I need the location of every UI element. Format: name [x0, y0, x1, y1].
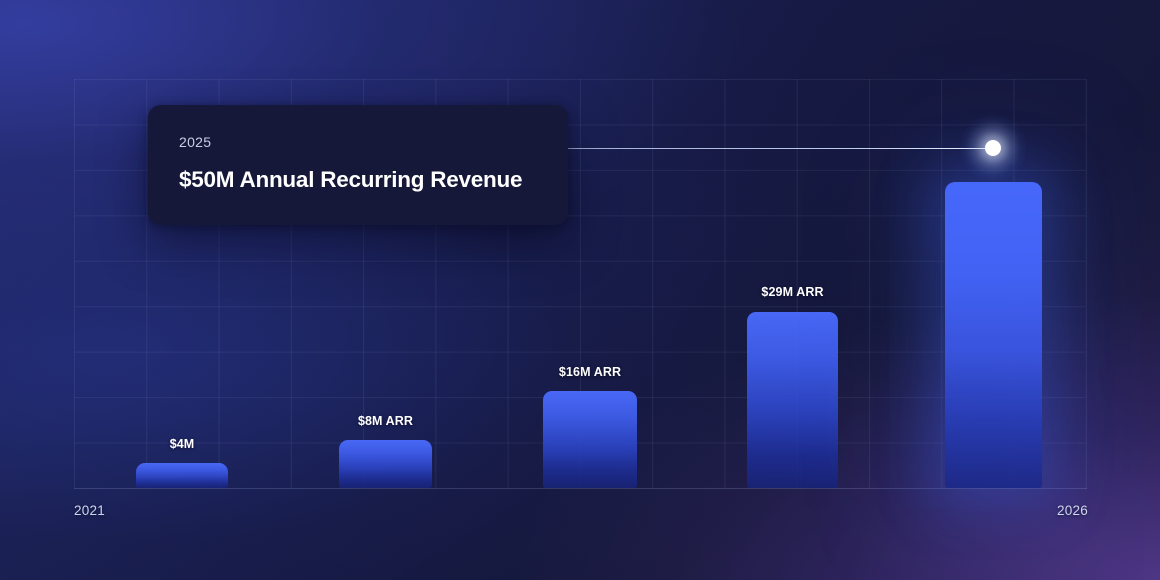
callout-year-label: 2025	[179, 135, 568, 149]
bar-group-2021[interactable]: $4M	[136, 463, 228, 488]
callout-connector-line	[566, 148, 994, 150]
bar-2022[interactable]	[339, 440, 432, 488]
bar-group-2023[interactable]: $16M ARR	[543, 391, 637, 488]
highlight-data-point-dot[interactable]	[985, 140, 1001, 156]
bar-value-label-2024: $29M ARR	[761, 285, 823, 299]
bar-group-2025[interactable]	[945, 182, 1042, 488]
bar-2023[interactable]	[543, 391, 637, 488]
callout-tooltip-card[interactable]: 2025 $50M Annual Recurring Revenue	[148, 105, 568, 225]
bar-value-label-2023: $16M ARR	[559, 365, 621, 379]
x-axis-end-label: 2026	[1057, 503, 1088, 518]
x-axis-start-label: 2021	[74, 503, 105, 518]
bar-group-2024[interactable]: $29M ARR	[747, 312, 838, 488]
bar-value-label-2021: $4M	[170, 437, 195, 451]
bar-2025[interactable]	[945, 182, 1042, 488]
bar-value-label-2022: $8M ARR	[358, 414, 413, 428]
bar-series: $4M $8M ARR $16M ARR $29M ARR	[0, 0, 1160, 580]
bar-2024[interactable]	[747, 312, 838, 488]
chart-canvas: $4M $8M ARR $16M ARR $29M ARR 2025 $50M …	[0, 0, 1160, 580]
bar-group-2022[interactable]: $8M ARR	[339, 440, 432, 488]
bar-2021[interactable]	[136, 463, 228, 488]
callout-headline: $50M Annual Recurring Revenue	[179, 168, 568, 193]
